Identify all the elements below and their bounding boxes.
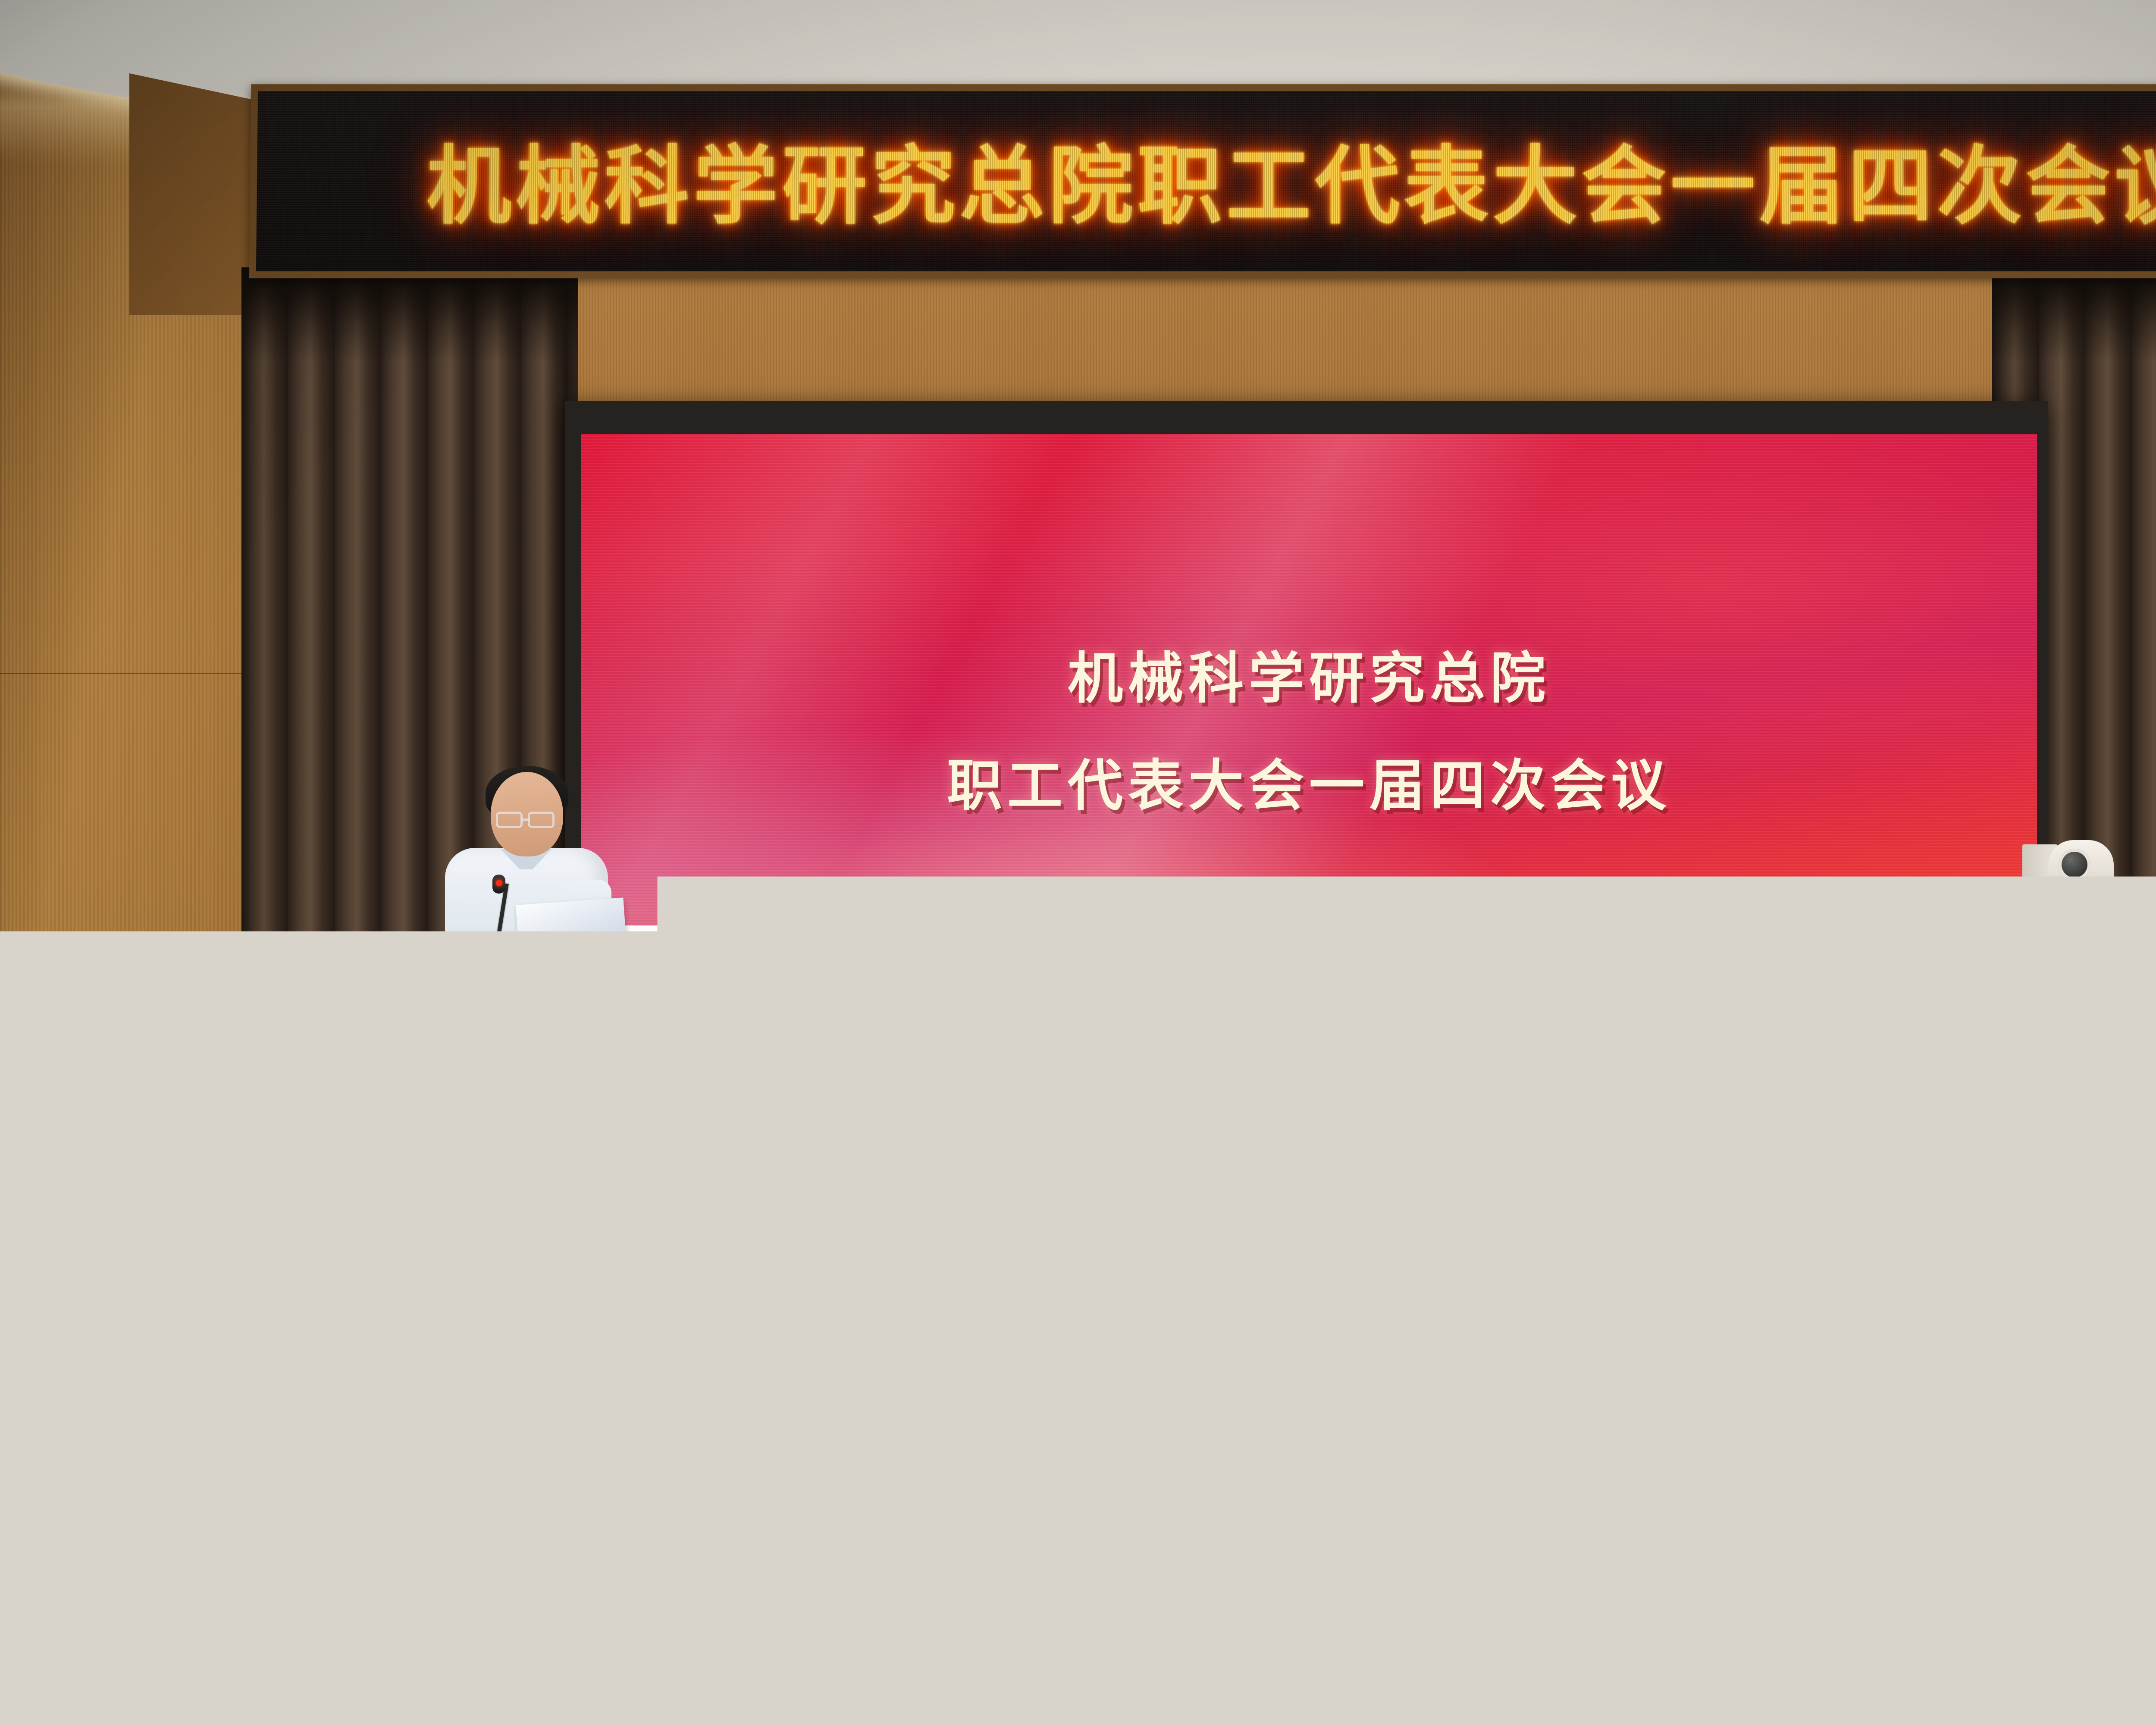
person-torso: [1259, 1117, 1388, 1203]
speaker-glasses-icon: [528, 812, 555, 828]
person-head: [2093, 1121, 2156, 1239]
person-head: [1900, 1134, 2011, 1251]
water-bottle: [1246, 1195, 1291, 1281]
person-head: [1442, 1126, 1555, 1244]
tea-mug: [1177, 1182, 1233, 1255]
audience-person: [2147, 1251, 2156, 1621]
led-banner-text: 机械科学研究总院职工代表大会一届四次会议: [426, 118, 2156, 240]
laptop: [1294, 1251, 1388, 1275]
water-bottle: [1927, 1315, 1981, 1424]
academy-name-en: China Academy of Machinery Science & Tec…: [738, 1044, 1153, 1062]
table-joint: [841, 1639, 843, 1725]
academy-triangle-logo-icon: [633, 984, 724, 1070]
curtain-shadow-left: [241, 267, 578, 362]
podium-front: [407, 1013, 636, 1091]
person-torso: [811, 1414, 1078, 1613]
audience-person: [509, 1264, 785, 1609]
person-torso: [509, 1406, 785, 1609]
person-head: [11, 1242, 153, 1393]
person-head: [1525, 1264, 1675, 1421]
bottle-label: [256, 1474, 312, 1512]
bottle-label: [1248, 1245, 1289, 1270]
person-head: [873, 1276, 1016, 1427]
table-joint: [1837, 1639, 1839, 1725]
glasses-lens-right: [1805, 1445, 1863, 1483]
podium-top: [401, 962, 642, 1018]
bottle-cap: [269, 1333, 301, 1349]
bottle-cap: [265, 1402, 303, 1421]
person-torso: [1138, 1458, 1526, 1725]
audience-person: [1138, 1458, 1526, 1725]
podium-speaker: [436, 772, 617, 975]
glasses-lens-left: [1738, 1445, 1795, 1483]
person-head: [420, 1138, 529, 1254]
speaker-glasses-icon: [496, 812, 523, 828]
table-row: [0, 1639, 2156, 1725]
microphone-status-light: [496, 880, 502, 886]
conference-hall-photo: 机械科学研究总院职工代表大会一届四次会议 机械科学研究总院 职工代表大会一届四次…: [0, 0, 2156, 1725]
academy-name-cn: 机械科学研究总院: [738, 992, 1153, 1039]
nameplate-triangle-logo-icon: [133, 1182, 144, 1192]
nameplate-logo: 机械科学研究总院: [133, 1182, 198, 1192]
water-bottle: [1250, 1324, 1303, 1432]
speaker-glasses-bridge: [522, 819, 530, 821]
person-head: [1065, 1117, 1173, 1233]
bottle-cap: [1938, 1315, 1971, 1333]
led-banner-screen: 机械科学研究总院职工代表大会一届四次会议: [256, 91, 2156, 271]
slide-title-line1: 机械科学研究总院: [1068, 634, 1551, 713]
person-head: [1672, 1113, 1786, 1233]
person-torso: [2147, 1406, 2156, 1621]
projection-screen-frame: 机械科学研究总院 职工代表大会一届四次会议 机械科学研究总院 China Aca…: [565, 401, 2048, 1134]
camera-lens: [2059, 849, 2090, 881]
table-surface: [0, 1639, 2156, 1695]
person-head: [859, 1138, 969, 1254]
audience-person: [1259, 1048, 1388, 1203]
mug-academy-logo-icon: [1190, 1215, 1209, 1234]
bottle-label: [1253, 1386, 1301, 1419]
audience-person: [811, 1276, 1078, 1613]
person-head: [651, 1121, 759, 1235]
nameplate-org: 机械科学研究总院: [147, 1184, 198, 1191]
person-torso: [0, 1380, 216, 1587]
academy-logo-text: 机械科学研究总院 China Academy of Machinery Scie…: [738, 992, 1153, 1062]
nameplate-triangle-logo-icon: [229, 1434, 241, 1446]
bottle-cap: [1260, 1324, 1293, 1341]
table-edge: [0, 1695, 2156, 1725]
led-banner: 机械科学研究总院职工代表大会一届四次会议: [249, 84, 2156, 278]
nameplate-yuting: 机械科学研究总院 玉亭: [124, 1176, 250, 1240]
nameplate-name: 玉亭: [124, 1199, 250, 1237]
audience-person: [0, 1242, 216, 1587]
water-bottle: [254, 1402, 314, 1527]
camera-status-led: [2083, 895, 2090, 900]
handbag: [1708, 1475, 1871, 1578]
curtain-shadow-right: [1992, 267, 2156, 362]
mug-knob: [1195, 1182, 1205, 1190]
slide-title-line2: 职工代表大会一届四次会议: [947, 741, 1671, 821]
person-head: [573, 1264, 720, 1418]
academy-logo: 机械科学研究总院 China Academy of Machinery Scie…: [581, 984, 1153, 1070]
bottle-label: [1930, 1378, 1979, 1411]
projection-screen: 机械科学研究总院 职工代表大会一届四次会议 机械科学研究总院 China Aca…: [581, 434, 2037, 1128]
eyeglasses-icon: [1738, 1445, 1863, 1483]
